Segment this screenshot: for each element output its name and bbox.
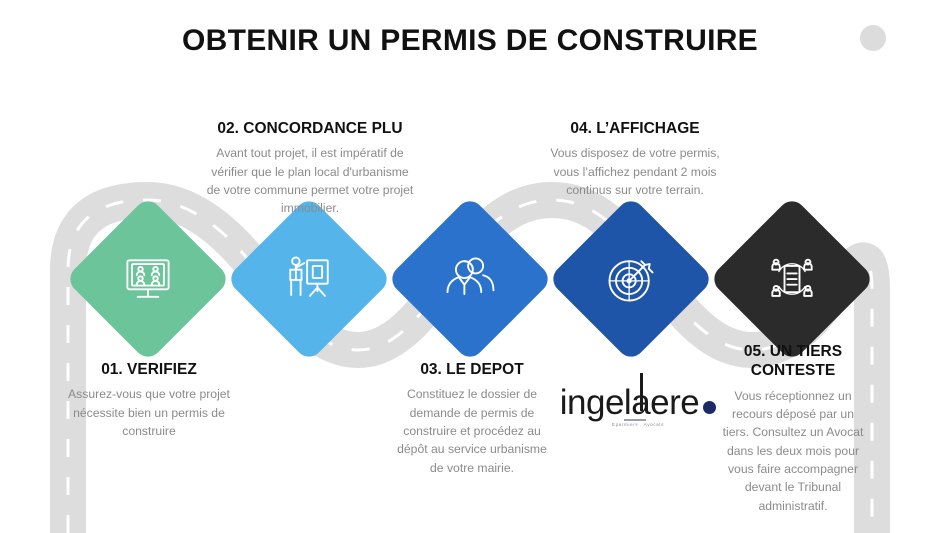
brand-logo-wordmark: ingelaere bbox=[560, 385, 700, 420]
brand-logo-tagline: Eparmiers . Avocats bbox=[548, 422, 728, 427]
brand-logo: ingelaere Eparmiers . Avocats bbox=[548, 385, 728, 427]
step-body-5: Vous réceptionnez un recours déposé par … bbox=[722, 387, 864, 515]
infographic-canvas: OBTENIR UN PERMIS DE CONSTRUIRE bbox=[0, 0, 940, 533]
brand-logo-dot bbox=[703, 401, 716, 414]
step-text-3: 03. LE DEPOT Constituez le dossier de de… bbox=[393, 360, 551, 477]
step-body-3: Constituez le dossier de demande de perm… bbox=[393, 385, 551, 476]
step-title-2: 02. CONCORDANCE PLU bbox=[205, 119, 415, 138]
brand-logo-text: ingelaere bbox=[560, 383, 700, 422]
step-body-4: Vous disposez de votre permis, vous l’af… bbox=[545, 144, 725, 199]
step-text-1: 01. VERIFIEZ Assurez-vous que votre proj… bbox=[68, 360, 230, 440]
step-text-4: 04. L’AFFICHAGE Vous disposez de votre p… bbox=[545, 119, 725, 199]
step-title-4: 04. L’AFFICHAGE bbox=[545, 119, 725, 138]
presenter-easel-icon bbox=[279, 249, 339, 309]
brand-logo-bar bbox=[640, 373, 643, 411]
step-body-2: Avant tout projet, il est impératif de v… bbox=[205, 144, 415, 217]
brand-logo-underscore bbox=[624, 419, 646, 421]
two-people-icon bbox=[440, 249, 500, 309]
step-title-5: 05. UN TIERS CONTESTE bbox=[722, 342, 864, 381]
step-title-3: 03. LE DEPOT bbox=[393, 360, 551, 379]
step-body-1: Assurez-vous que votre projet nécessite … bbox=[68, 385, 230, 440]
video-conference-people-icon bbox=[118, 249, 178, 309]
people-around-document-icon bbox=[762, 249, 822, 309]
step-text-5: 05. UN TIERS CONTESTE Vous réceptionnez … bbox=[722, 342, 864, 515]
step-title-1: 01. VERIFIEZ bbox=[68, 360, 230, 379]
target-arrow-icon bbox=[601, 249, 661, 309]
step-text-2: 02. CONCORDANCE PLU Avant tout projet, i… bbox=[205, 119, 415, 218]
